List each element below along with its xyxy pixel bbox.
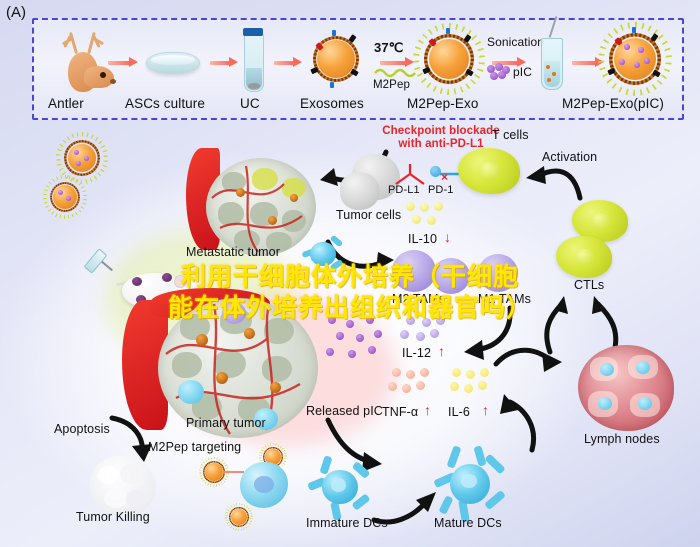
arrow-idc-to-mdc <box>372 488 440 528</box>
sonication-tube-icon <box>541 38 563 90</box>
tumor-killing-label: Tumor Killing <box>76 510 150 524</box>
tnf-alpha-label: TNF-α <box>382 405 418 419</box>
apoptosis-label: Apoptosis <box>54 422 110 436</box>
arrow-to-lymph-nodes <box>494 344 566 384</box>
blockade-x-icon: × <box>441 170 448 184</box>
il-12-label: IL-12 <box>402 346 431 360</box>
syringe-icon <box>86 245 116 275</box>
temperature-label: 37℃ <box>374 40 403 56</box>
exosome-particle-icon <box>62 138 102 178</box>
released-pic-label: Released pIC <box>306 404 383 418</box>
il-12-up-arrow-icon: ↑ <box>438 343 445 359</box>
centrifuge-tube-icon <box>244 34 264 92</box>
panel-a-step-label-exosomes: Exosomes <box>300 96 364 111</box>
ctls-label: CTLs <box>574 278 604 292</box>
panel-a-step-label-m2pep-exo-pic: M2Pep-Exo(pIC) <box>562 96 664 111</box>
checkpoint-blockade-title-line1: Checkpoint blockade <box>376 125 506 138</box>
released-pic-particles-icon <box>326 316 382 366</box>
ctl-cell-icon <box>556 236 612 278</box>
t-cell-icon <box>458 148 520 194</box>
pd-1-label: PD-1 <box>428 184 453 196</box>
immature-dc-icon <box>308 456 372 518</box>
pic-particles-icon <box>487 63 509 79</box>
apoptotic-cell-icon <box>90 456 156 516</box>
process-arrow <box>108 58 138 67</box>
sonication-label: Sonication <box>487 35 544 49</box>
lymph-nodes-label: Lymph nodes <box>584 432 660 446</box>
il-12-particles-icon <box>400 316 448 346</box>
m2-tam-icon <box>392 250 436 292</box>
primary-tumor-label: Primary tumor <box>186 416 266 430</box>
petri-dish-icon <box>146 52 200 74</box>
process-arrow <box>274 58 302 67</box>
m2pep-exosome-pic-icon <box>606 30 664 88</box>
m2pep-targeting-label: M2Pep targeting <box>148 440 241 454</box>
m2pep-squiggle-icon <box>374 66 416 78</box>
panel-a-label: (A) <box>6 4 26 21</box>
tumor-cells-label: Tumor cells <box>336 208 401 222</box>
arrow-activation <box>522 162 584 202</box>
panel-b: Metastatic tumor Tumor cells Checkpoint … <box>0 120 700 547</box>
mature-dcs-label: Mature DCs <box>434 516 502 530</box>
tumor-cell-icon <box>340 172 380 210</box>
il-10-particles-icon <box>402 202 450 232</box>
t-cells-label: T cells <box>492 128 529 142</box>
panel-a: (A) Antler ASCs culture UC <box>0 0 700 122</box>
panel-a-step-label-antler: Antler <box>48 96 84 111</box>
immature-dc-icon <box>300 232 346 276</box>
panel-a-step-label-asc: ASCs culture <box>125 96 205 111</box>
il-6-label: IL-6 <box>448 405 470 419</box>
m2pep-exosome-icon <box>421 31 477 87</box>
m1-tam-icon <box>478 254 518 292</box>
m2-tams-label: M2 TAMs <box>392 292 445 306</box>
il-10-down-arrow-icon: ↓ <box>444 229 451 245</box>
m1-tams-label: M1 TAMs <box>478 292 531 306</box>
arrow-maturedc-to-cytokines <box>488 392 540 452</box>
process-arrow <box>210 58 238 67</box>
lymph-node-icon <box>578 345 674 431</box>
targeting-link-icon <box>222 466 246 478</box>
m2-tam-icon <box>432 258 470 294</box>
scientific-figure: (A) Antler ASCs culture UC <box>0 0 700 547</box>
il-10-label: IL-10 <box>408 232 437 246</box>
pic-label: pIC <box>513 65 532 79</box>
mature-dc-icon <box>434 448 506 520</box>
tnf-alpha-particles-icon <box>388 368 436 398</box>
m2pep-label: M2Pep <box>373 79 410 91</box>
metastatic-tumor-label: Metastatic tumor <box>186 245 280 259</box>
tnf-alpha-up-arrow-icon: ↑ <box>424 402 431 418</box>
pd-l1-label: PD-L1 <box>388 184 420 196</box>
exosome-icon <box>310 33 362 85</box>
panel-a-step-label-uc: UC <box>240 96 260 111</box>
exosome-particle-icon <box>48 180 82 214</box>
targeted-macrophage-icon <box>234 456 294 514</box>
panel-a-step-label-m2pep-exo: M2Pep-Exo <box>407 96 478 111</box>
